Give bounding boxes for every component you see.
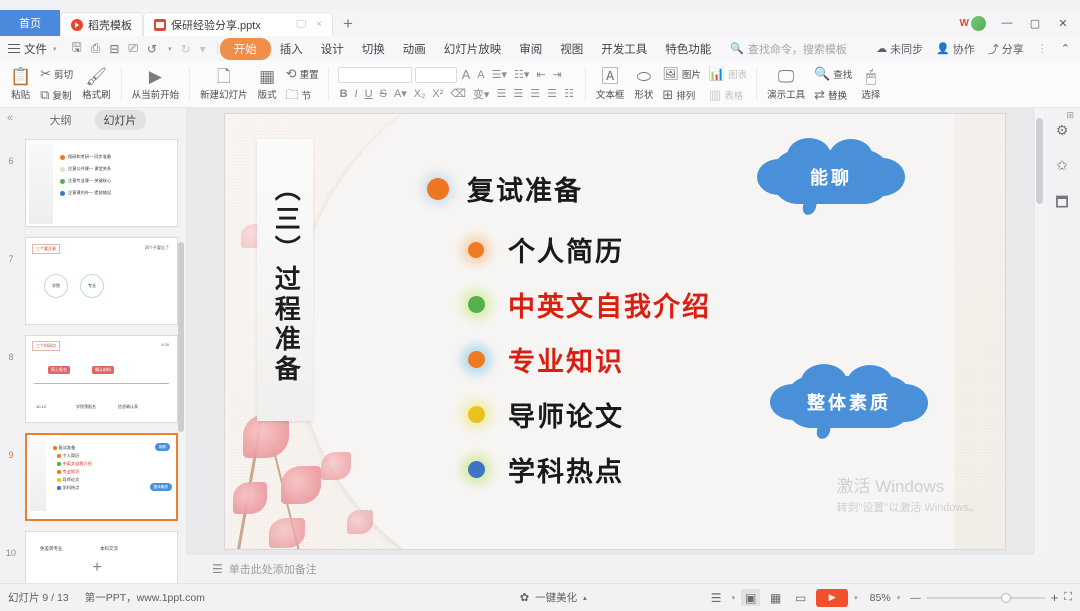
close-button[interactable]: ✕ xyxy=(1050,12,1076,34)
textbox-label: 文本框 xyxy=(596,87,625,101)
wps-presentation-window: 首页 稻壳模板 保研经验分享.pptx 🖵 × + W — ▢ ✕ xyxy=(0,0,1080,611)
status-right: ☰ ▾ ▣ ▦ ▭ ▶ ▾ 85% ▾ — xyxy=(707,589,1080,607)
bullet-row[interactable]: 中英文自我介绍 xyxy=(465,285,895,324)
zoom-level-label[interactable]: 85% xyxy=(870,592,891,604)
view-options-caret-icon[interactable]: ▾ xyxy=(732,594,736,602)
ribbon-group-clipboard: 📋 粘贴 ✂ 剪切 ⧉ 复制 🖌 格式刷 xyxy=(0,62,121,106)
zoom-out-icon: — xyxy=(910,592,921,604)
slide-counter: 幻灯片 9 / 13 xyxy=(8,590,69,605)
zoom-slider[interactable] xyxy=(927,597,1045,599)
new-tab-button[interactable]: + xyxy=(333,12,363,36)
arrange-button[interactable]: ⊞ 排列 xyxy=(658,86,705,104)
undo-icon[interactable]: ↺ xyxy=(147,42,157,56)
present-tools-button[interactable]: 🖵 演示工具 xyxy=(762,68,810,101)
section-button[interactable]: 🗀 节 xyxy=(282,86,323,104)
list-item[interactable]: 7 三个要注意 四个不要忘了 学院 专业 xyxy=(0,232,186,330)
tab-slides-label: 幻灯片 xyxy=(104,115,137,127)
tab-special-features-label: 特色功能 xyxy=(665,44,711,56)
zoom-caret-icon[interactable]: ▾ xyxy=(897,594,901,602)
tab-design-label: 设计 xyxy=(321,44,344,56)
tab-slides[interactable]: 幻灯片 xyxy=(95,110,146,130)
undo-chevron-icon[interactable]: ▾ xyxy=(168,45,172,53)
ribbon-toolbar: 📋 粘贴 ✂ 剪切 ⧉ 复制 🖌 格式刷 ▶ 从 xyxy=(0,61,1080,108)
sync-status-button[interactable]: ☁ 未同步 xyxy=(876,41,923,57)
list-item[interactable]: 8 三个时间点 9.28 网上报名 确认材料 10.12 学院预报名 信息确认表 xyxy=(0,330,186,428)
menu-overflow-icon[interactable]: ⋮ xyxy=(1037,42,1048,55)
tab-docer-template[interactable]: 稻壳模板 xyxy=(60,12,143,36)
thumb-line: 学科热点 xyxy=(63,484,80,492)
cloud-sync-icon: ☁ xyxy=(876,42,887,55)
normal-view-icon: ▣ xyxy=(745,591,756,605)
increase-indent-icon[interactable]: ⇥ xyxy=(551,68,564,81)
thumb-line: 四个不要忘了 xyxy=(145,245,169,251)
thumb-line: 导师论文 xyxy=(63,476,80,484)
tab-special-features[interactable]: 特色功能 xyxy=(656,38,720,60)
grow-font-icon[interactable]: A xyxy=(460,67,473,82)
find-button[interactable]: 🔍 查找 xyxy=(810,65,856,83)
select-label: 选择 xyxy=(861,87,880,101)
scrollbar-thumb[interactable] xyxy=(1036,118,1043,204)
search-icon: 🔍 xyxy=(730,42,744,55)
thumbnail[interactable]: 三个要注意 四个不要忘了 学院 专业 xyxy=(25,237,178,325)
hamburger-icon xyxy=(8,41,20,56)
tab-animation-label: 动画 xyxy=(403,44,426,56)
clear-format-icon[interactable]: ⌫ xyxy=(448,87,468,100)
chevron-down-icon: ▾ xyxy=(53,45,57,53)
section-icon: 🗀 xyxy=(286,88,299,101)
font-name-input[interactable] xyxy=(338,67,412,83)
new-slide-label: 新建幻灯片 xyxy=(200,87,248,101)
layout-button[interactable]: ▦ 版式 xyxy=(253,68,282,101)
text-transform-icon[interactable]: 变▾ xyxy=(471,86,492,102)
copy-label: 复制 xyxy=(52,88,71,102)
fit-to-window-button[interactable]: ⛶ xyxy=(1064,591,1072,604)
copy-icon: ⧉ xyxy=(40,88,49,101)
new-slide-icon: 🗋 xyxy=(217,68,231,85)
list-item[interactable]: 6 保研和考研--- 同步准备 注意公共课--- 课堂关系 xyxy=(0,134,186,232)
slide-thumbnail-panel: « 大纲 幻灯片 6 保研和考研--- 同步准备 xyxy=(0,108,186,583)
align-center-icon[interactable]: ☰ xyxy=(511,87,525,100)
reading-view-button[interactable]: ▭ xyxy=(791,589,810,606)
thumbnail-number: 10 xyxy=(0,531,22,560)
bullet-text: 学科热点 xyxy=(508,450,624,489)
thumb-line: 学院 xyxy=(44,274,68,298)
thumbnail[interactable]: 保研和考研--- 同步准备 注意公共课--- 课堂关系 注意专业课--- 关键核… xyxy=(25,139,178,227)
arrange-icon: ⊞ xyxy=(662,88,673,101)
thumb-line: 学院预报名 xyxy=(76,404,96,410)
zoom-slider-knob[interactable] xyxy=(1001,593,1011,603)
reset-label: 重置 xyxy=(300,67,319,81)
picture-icon: 🖼 xyxy=(662,67,679,80)
section-title: （三）过程准备 xyxy=(271,175,300,385)
thumb-line: 免差转专业 xyxy=(40,546,63,552)
thumb-line: 信息确认表 xyxy=(118,404,138,410)
zoom-out-button[interactable]: — xyxy=(910,592,921,604)
speech-bubble-bottom[interactable]: 整体素质 xyxy=(785,376,913,428)
add-slide-button[interactable]: + xyxy=(88,560,106,578)
select-cursor-icon: 🖱 xyxy=(866,68,876,85)
tab-review[interactable]: 审阅 xyxy=(510,38,551,60)
notes-pane[interactable]: ☰ 单击此处添加备注 xyxy=(186,555,1044,583)
chart-button[interactable]: 📊 图表 xyxy=(705,65,751,83)
replace-button[interactable]: ⇄ 替换 xyxy=(810,86,856,104)
thumbnail-selected[interactable]: 复试准备 个人简历 中英文自我介绍 专业知识 导师论文 学科热点 能聊 整体素质 xyxy=(25,433,178,521)
print-icon[interactable]: ⎙ xyxy=(91,41,101,56)
tab-close-icon[interactable]: × xyxy=(316,19,322,30)
thumbnail-list[interactable]: 6 保研和考研--- 同步准备 注意公共课--- 课堂关系 xyxy=(0,134,186,583)
thumbnail-number: 9 xyxy=(0,433,22,462)
source-credit: 第一PPT，www.1ppt.com xyxy=(85,590,205,605)
ribbon-group-font: A A ☰▾ ☷▾ ⇤ ⇥ B I U S A▾ X₂ X² ⌫ xyxy=(329,62,585,106)
bullet-list-icon[interactable]: ☰▾ xyxy=(490,68,509,81)
preview-icon[interactable]: ⎚ xyxy=(128,41,138,56)
bullet-dot-icon xyxy=(468,296,485,313)
thumbnail-scrollbar[interactable] xyxy=(178,242,184,432)
textbox-button[interactable]: 🄰 文本框 xyxy=(591,68,630,101)
thumb-line: 复试准备 xyxy=(59,444,76,452)
copy-button[interactable]: ⧉ 复制 xyxy=(36,86,77,104)
new-tab-label: + xyxy=(343,14,353,34)
font-size-input[interactable] xyxy=(415,67,457,83)
play-icon: ▶ xyxy=(829,592,836,603)
reset-button[interactable]: ⟲ 重置 xyxy=(282,65,323,83)
bullet-text: 复试准备 xyxy=(467,169,583,208)
bullet-list[interactable]: 复试准备 个人简历 中英文自我介绍 专业知识 导师论文 xyxy=(465,169,895,495)
present-tools-icon: 🖵 xyxy=(778,68,794,85)
bullet-text: 个人简历 xyxy=(508,230,624,269)
picture-label: 图片 xyxy=(682,67,701,81)
thumb-line: 三个要注意 xyxy=(32,244,60,254)
present-tools-label: 演示工具 xyxy=(767,87,805,101)
layout-label: 版式 xyxy=(258,87,277,101)
align-left-icon[interactable]: ☰ xyxy=(494,87,508,100)
menu-bar: 文件 ▾ 🖫 ⎙ ⊟ ⎚ ↺ ▾ ↻ ▾ 开始 插入 设计 切换 动画 xyxy=(0,36,1080,61)
zoom-in-icon: + xyxy=(1051,590,1059,605)
thumb-line: 10.12 xyxy=(36,404,46,409)
maximize-icon: ▢ xyxy=(1030,17,1040,30)
table-button[interactable]: ▥ 表格 xyxy=(705,86,751,104)
add-slide-icon: + xyxy=(92,559,101,576)
tab-developer[interactable]: 开发工具 xyxy=(592,38,656,60)
tab-slideshow[interactable]: 幻灯片放映 xyxy=(435,38,511,60)
tab-start-label: 开始 xyxy=(234,44,257,56)
share-label: 分享 xyxy=(1002,41,1024,57)
reset-icon: ⟲ xyxy=(286,67,297,80)
normal-view-button[interactable]: ▣ xyxy=(741,589,760,606)
rail-expand-icon[interactable]: ⊞ xyxy=(1066,110,1074,121)
blossom-decoration xyxy=(281,466,321,504)
shape-button[interactable]: ⬭ 形状 xyxy=(629,68,658,101)
speech-bubble-top-text: 能聊 xyxy=(810,164,852,190)
justify-icon[interactable]: ☰ xyxy=(545,87,559,100)
textbox-icon: 🄰 xyxy=(602,68,619,85)
thumb-line: 个人简历 xyxy=(63,452,80,460)
italic-icon[interactable]: I xyxy=(353,88,360,100)
blossom-decoration xyxy=(321,452,351,480)
favorite-star-icon[interactable]: ✩ xyxy=(1056,157,1068,174)
thumb-line: 注意专业课--- 关键核心 xyxy=(68,178,111,184)
start-from-current-button[interactable]: ▶ 从当前开始 xyxy=(127,68,185,101)
find-label: 查找 xyxy=(833,67,852,81)
table-icon: ▥ xyxy=(709,88,721,101)
wps-badge-icon: W xyxy=(960,18,969,29)
thumb-line: 中英文自我介绍 xyxy=(63,460,92,468)
fit-to-window-icon: ⛶ xyxy=(1064,591,1072,603)
play-options-caret-icon[interactable]: ▾ xyxy=(854,594,858,602)
collapse-panel-icon[interactable]: « xyxy=(7,112,13,124)
outline-view-icon: ☰ xyxy=(711,591,722,605)
speech-bubble-bottom-text: 整体素质 xyxy=(807,389,891,415)
tab-view[interactable]: 视图 xyxy=(551,38,592,60)
format-painter-icon: 🖌 xyxy=(86,68,108,85)
format-painter-button[interactable]: 🖌 格式刷 xyxy=(77,68,116,101)
subscript-icon[interactable]: X₂ xyxy=(412,88,428,100)
blossom-decoration xyxy=(233,482,267,514)
paste-label: 粘贴 xyxy=(11,87,30,101)
beautify-caret-icon: ▴ xyxy=(583,594,587,602)
tab-developer-label: 开发工具 xyxy=(601,44,647,56)
tab-document-label: 保研经验分享.pptx xyxy=(171,17,261,33)
numbered-list-icon[interactable]: ☷▾ xyxy=(512,68,531,81)
thumbnail-number: 7 xyxy=(0,237,22,266)
tab-outline-label: 大纲 xyxy=(50,115,72,127)
collab-icon: 👤 xyxy=(936,42,950,55)
align-right-icon[interactable]: ☰ xyxy=(528,87,542,100)
tab-insert[interactable]: 插入 xyxy=(271,38,312,60)
divider xyxy=(217,42,218,55)
blossom-decoration xyxy=(347,510,373,534)
quick-access-toolbar: 🖫 ⎙ ⊟ ⎚ ↺ ▾ ↻ ▾ xyxy=(63,38,215,59)
shape-icon: ⬭ xyxy=(637,68,652,85)
cut-label: 剪切 xyxy=(54,67,73,81)
start-from-current-label: 从当前开始 xyxy=(132,87,180,101)
minimize-button[interactable]: — xyxy=(994,12,1020,34)
thumb-line: 9.28 xyxy=(161,342,169,347)
share-icon: ⤴ xyxy=(988,41,999,57)
status-bar: 幻灯片 9 / 13 第一PPT，www.1ppt.com ✿ 一键美化 ▴ ☰… xyxy=(0,583,1080,611)
settings-slider-icon[interactable]: ⚙ xyxy=(1056,122,1069,139)
cut-icon: ✂ xyxy=(40,67,51,80)
maximize-button[interactable]: ▢ xyxy=(1022,12,1048,34)
slide-canvas[interactable]: （三）过程准备 复试准备 个人简历 中英文自我介绍 专业知识 xyxy=(225,114,1005,549)
status-left: 幻灯片 9 / 13 第一PPT，www.1ppt.com xyxy=(0,590,205,605)
arrange-label: 排列 xyxy=(676,88,695,102)
ribbon-group-slides: 🗋 新建幻灯片 ▦ 版式 ⟲ 重置 🗀 节 xyxy=(190,62,327,106)
ribbon-group-insert: 🄰 文本框 ⬭ 形状 🖼 图片 ⊞ 排列 📊 图表 xyxy=(586,62,756,106)
distribute-icon[interactable]: ☷ xyxy=(562,87,576,100)
bullet-row[interactable]: 学科热点 xyxy=(465,450,895,489)
collaborate-button[interactable]: 👤 协作 xyxy=(936,41,975,57)
beautify-label: 一键美化 xyxy=(535,590,577,605)
blossom-decoration xyxy=(269,518,305,548)
command-search[interactable]: 🔍 查找命令，搜索模板 xyxy=(730,41,847,57)
slide-sorter-view-button[interactable]: ▦ xyxy=(766,589,785,606)
notes-icon: ☰ xyxy=(212,562,223,576)
section-title-strip[interactable]: （三）过程准备 xyxy=(257,139,313,421)
tab-home[interactable]: 首页 xyxy=(0,10,60,36)
chart-icon: 📊 xyxy=(709,67,725,80)
redo-icon[interactable]: ↻ xyxy=(181,42,191,56)
pptx-icon xyxy=(154,19,166,31)
find-search-icon: 🔍 xyxy=(814,67,830,80)
thumb-line: 保研和考研--- 同步准备 xyxy=(68,154,111,160)
ribbon-group-slideshow: ▶ 从当前开始 xyxy=(122,62,190,106)
thumb-bubble: 整体素质 xyxy=(150,483,172,491)
bullet-dot-icon xyxy=(468,242,484,258)
tab-home-label: 首页 xyxy=(19,15,41,31)
tab-cast-icon[interactable]: 🖵 xyxy=(297,19,307,30)
paste-button[interactable]: 📋 粘贴 xyxy=(5,68,36,101)
chart-label: 图表 xyxy=(728,67,747,81)
bullet-text: 专业知识 xyxy=(508,340,624,379)
panel-tab-bar: « 大纲 幻灯片 xyxy=(0,108,186,132)
strikethrough-icon[interactable]: S xyxy=(378,88,389,100)
collaborate-label: 协作 xyxy=(953,41,975,57)
select-button[interactable]: 🖱 选择 xyxy=(856,68,885,101)
menu-right-actions: ☁ 未同步 👤 协作 ⤴ 分享 ⋮ ⌃ xyxy=(876,41,1080,57)
bullet-dot-icon xyxy=(468,406,485,423)
title-bar: 首页 稻壳模板 保研经验分享.pptx 🖵 × + xyxy=(0,10,1080,36)
bullet-dot-icon xyxy=(468,351,485,368)
shrink-font-icon[interactable]: A xyxy=(475,69,486,81)
slide-sorter-view-icon: ▦ xyxy=(770,591,781,605)
superscript-icon[interactable]: X² xyxy=(430,88,445,100)
text-shadow-icon[interactable]: A▾ xyxy=(392,87,409,100)
replace-icon: ⇄ xyxy=(814,88,825,101)
export-pdf-icon[interactable]: ⊟ xyxy=(109,42,119,56)
shape-label: 形状 xyxy=(634,87,653,101)
bullet-row[interactable]: 个人简历 xyxy=(465,230,895,269)
tab-outline[interactable]: 大纲 xyxy=(41,110,81,130)
zoom-in-button[interactable]: + xyxy=(1051,590,1059,605)
share-button[interactable]: ⤴ 分享 xyxy=(988,41,1024,57)
save-icon[interactable]: 🖫 xyxy=(72,38,82,59)
thumb-bubble: 能聊 xyxy=(155,443,170,451)
play-circle-icon: ▶ xyxy=(149,68,162,85)
thumb-line: 本科交流 xyxy=(100,546,118,552)
thumb-line: 注意公共课--- 课堂关系 xyxy=(68,166,111,172)
thumbnail[interactable]: 三个时间点 9.28 网上报名 确认材料 10.12 学院预报名 信息确认表 xyxy=(25,335,178,423)
bullet-text: 中英文自我介绍 xyxy=(508,285,711,324)
thumb-line: 专业知识 xyxy=(63,468,80,476)
paste-icon: 📋 xyxy=(10,68,31,85)
thumbnail-number: 8 xyxy=(0,335,22,364)
command-search-placeholder: 查找命令，搜索模板 xyxy=(748,41,847,57)
cut-button[interactable]: ✂ 剪切 xyxy=(36,65,77,83)
picture-button[interactable]: 🖼 图片 xyxy=(658,65,705,83)
tab-review-label: 审阅 xyxy=(519,44,542,56)
tab-view-label: 视图 xyxy=(560,44,583,56)
thumb-line: 确认材料 xyxy=(92,366,114,374)
bullet-dot-icon xyxy=(468,461,485,478)
new-slide-button[interactable]: 🗋 新建幻灯片 xyxy=(195,68,253,101)
format-painter-label: 格式刷 xyxy=(82,87,111,101)
avatar[interactable] xyxy=(971,16,986,31)
thumb-line: 三个时间点 xyxy=(32,341,60,351)
underline-icon[interactable]: U xyxy=(363,88,375,100)
list-item[interactable]: 9 复试准备 个人简历 中英文自我介绍 专业知识 导师论文 学科热点 能聊 xyxy=(0,428,186,526)
tab-transition-label: 切换 xyxy=(362,44,385,56)
bullet-text: 导师论文 xyxy=(508,395,624,434)
window-controls: W — ▢ ✕ xyxy=(960,10,1080,36)
tab-transition[interactable]: 切换 xyxy=(353,38,394,60)
customize-qat-icon[interactable]: ▾ xyxy=(200,42,206,56)
right-tool-rail: ⊞ ⚙ ✩ 🗖 xyxy=(1044,108,1080,583)
speech-bubble-top[interactable]: 能聊 xyxy=(771,150,891,204)
bold-icon[interactable]: B xyxy=(338,88,350,100)
thumb-line: 专业 xyxy=(80,274,104,298)
tab-document-pptx[interactable]: 保研经验分享.pptx 🖵 × xyxy=(143,12,333,36)
file-menu-label: 文件 xyxy=(24,41,47,57)
start-slideshow-button[interactable]: ▶ xyxy=(816,589,848,607)
reading-view-icon: ▭ xyxy=(795,591,806,605)
tab-insert-label: 插入 xyxy=(280,44,303,56)
notes-placeholder: 单击此处添加备注 xyxy=(229,561,317,577)
docer-icon xyxy=(71,19,83,31)
collapse-ribbon-icon[interactable]: ⌃ xyxy=(1061,42,1070,55)
beautify-button[interactable]: ✿ 一键美化 ▴ xyxy=(520,590,587,605)
slide-editing-area[interactable]: （三）过程准备 复试准备 个人简历 中英文自我介绍 专业知识 xyxy=(186,108,1044,555)
beautify-icon: ✿ xyxy=(520,591,529,604)
tab-docer-label: 稻壳模板 xyxy=(88,17,132,33)
tab-start[interactable]: 开始 xyxy=(220,38,271,60)
ribbon-group-tools: 🖵 演示工具 🔍 查找 ⇄ 替换 🖱 选择 xyxy=(757,62,890,106)
sync-status-label: 未同步 xyxy=(890,41,923,57)
section-label: 节 xyxy=(302,88,312,102)
thumb-line: 注意课内外--- 提前铺设 xyxy=(68,190,111,196)
tab-slideshow-label: 幻灯片放映 xyxy=(444,44,502,56)
file-menu-button[interactable]: 文件 ▾ xyxy=(0,41,63,57)
bullet-dot-icon xyxy=(427,178,449,200)
table-label: 表格 xyxy=(724,88,743,102)
layout-icon: ▦ xyxy=(259,68,275,85)
replace-label: 替换 xyxy=(828,88,847,102)
close-icon: ✕ xyxy=(1058,17,1067,30)
tab-animation[interactable]: 动画 xyxy=(394,38,435,60)
screen-cast-icon[interactable]: 🗖 xyxy=(1055,192,1068,216)
outline-view-button[interactable]: ☰ xyxy=(707,589,726,606)
thumb-line: 网上报名 xyxy=(48,366,70,374)
tab-design[interactable]: 设计 xyxy=(312,38,353,60)
slide-scrollbar[interactable] xyxy=(1035,108,1044,555)
minimize-icon: — xyxy=(1002,17,1013,29)
thumbnail-number: 6 xyxy=(0,139,22,168)
decrease-indent-icon[interactable]: ⇤ xyxy=(534,68,547,81)
